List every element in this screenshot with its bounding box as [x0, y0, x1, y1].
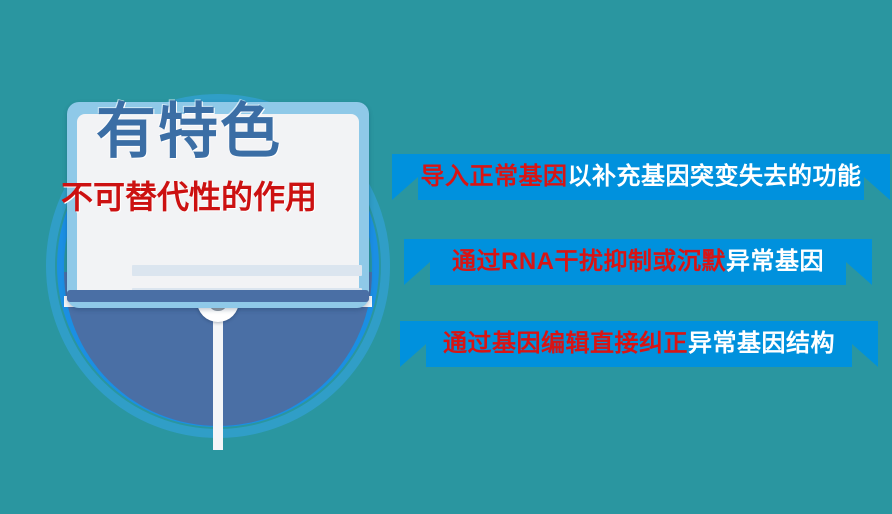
ribbon-item-1[interactable]: 导入正常基因以补充基因突变失去的功能 [392, 154, 890, 200]
ribbon-2-red-text: 通过RNA干扰抑制或沉默 [452, 248, 726, 275]
ribbon-3-red-text: 通过基因编辑直接纠正 [443, 330, 688, 357]
ribbon-2-white-text: 异常基因 [726, 248, 824, 275]
ribbon-3-white-text: 异常基因结构 [688, 330, 835, 357]
ribbon-item-3[interactable]: 通过基因编辑直接纠正异常基因结构 [400, 321, 878, 367]
ribbon-1-white-text: 以补充基因突变失去的功能 [568, 163, 862, 190]
ribbon-1-red-text: 导入正常基因 [421, 163, 568, 190]
ribbon-list: 导入正常基因以补充基因突变失去的功能 通过RNA干扰抑制或沉默异常基因 通过基因… [0, 0, 892, 514]
ribbon-item-2[interactable]: 通过RNA干扰抑制或沉默异常基因 [404, 239, 872, 285]
infographic-canvas: 有特色 不可替代性的作用 导入正常基因以补充基因突变失去的功能 通过RNA干扰抑… [0, 0, 892, 514]
